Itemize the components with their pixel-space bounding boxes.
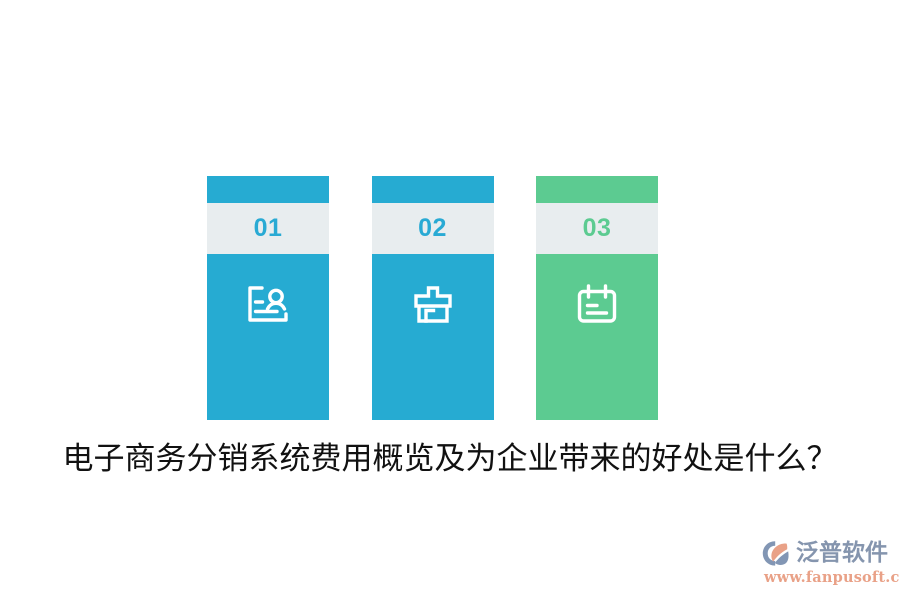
brand-url: www.fanpusoft.com: [764, 571, 900, 586]
banner-number-band-01: 01: [207, 203, 329, 254]
banner-body-02: [372, 254, 494, 420]
banner-number-03: 03: [583, 216, 612, 241]
fanpu-logo-mark-icon: [762, 540, 792, 567]
banner-top-stripe-01: [207, 176, 329, 203]
banner-item-02[interactable]: 02: [372, 176, 494, 420]
banner-group: 01 02: [207, 176, 658, 420]
banner-top-stripe-03: [536, 176, 658, 203]
banner-number-band-02: 02: [372, 203, 494, 254]
poster-canvas: 01 02: [0, 0, 900, 600]
banner-top-stripe-02: [372, 176, 494, 203]
brand-row: 泛普软件: [762, 538, 888, 568]
brand-watermark: 泛普软件 www.fanpusoft.com: [762, 538, 898, 588]
page-title: 电子商务分销系统费用概览及为企业带来的好处是什么？: [0, 437, 900, 481]
contact-card-icon: [240, 276, 296, 332]
brand-name: 泛普软件: [796, 542, 888, 565]
banner-number-01: 01: [254, 216, 283, 241]
banner-number-band-03: 03: [536, 203, 658, 254]
store-building-icon: [405, 276, 461, 332]
banner-body-01: [207, 254, 329, 420]
calendar-note-icon: [569, 276, 625, 332]
banner-number-02: 02: [418, 216, 447, 241]
banner-item-03[interactable]: 03: [536, 176, 658, 420]
banner-item-01[interactable]: 01: [207, 176, 329, 420]
banner-body-03: [536, 254, 658, 420]
